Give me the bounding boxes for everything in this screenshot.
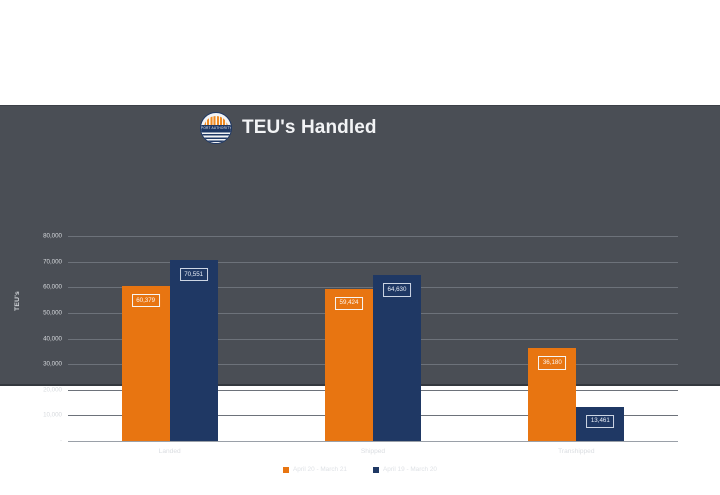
bar-value-label: 13,461 bbox=[586, 415, 614, 428]
y-axis-tick-label: 80,000 bbox=[43, 233, 62, 240]
legend-swatch-icon bbox=[373, 467, 379, 473]
x-axis-category-label: Shipped bbox=[361, 448, 385, 455]
chart-panel: PORT AUTHORITY TEU's Handled TEU's -10,0… bbox=[0, 105, 720, 386]
x-axis-category-label: Transhipped bbox=[558, 448, 594, 455]
chart-canvas: PORT AUTHORITY TEU's Handled TEU's -10,0… bbox=[0, 0, 720, 495]
bar-group: 59,42464,630Shipped bbox=[271, 236, 474, 441]
bar-shipped-series1[interactable]: 64,630 bbox=[373, 275, 421, 441]
bar-value-label: 59,424 bbox=[335, 297, 363, 310]
y-axis-tick-label: 60,000 bbox=[43, 284, 62, 291]
bar-transhipped-series0[interactable]: 36,180 bbox=[528, 348, 576, 441]
y-axis-tick-label: - bbox=[60, 438, 62, 445]
plot-area: -10,00020,00030,00040,00050,00060,00070,… bbox=[68, 236, 678, 441]
y-axis-tick-label: 70,000 bbox=[43, 258, 62, 265]
y-axis-tick-label: 20,000 bbox=[43, 386, 62, 393]
chart-header: PORT AUTHORITY TEU's Handled bbox=[200, 111, 377, 145]
legend-label: April 20 - March 21 bbox=[293, 466, 347, 473]
bar-value-label: 60,379 bbox=[132, 294, 160, 307]
chart-legend: April 20 - March 21April 19 - March 20 bbox=[0, 466, 720, 473]
y-axis-tick-label: 10,000 bbox=[43, 412, 62, 419]
waves-icon bbox=[201, 131, 231, 143]
bar-value-label: 36,180 bbox=[538, 356, 566, 369]
bar-shipped-series0[interactable]: 59,424 bbox=[325, 289, 373, 441]
y-axis-tick-label: 40,000 bbox=[43, 335, 62, 342]
bar-group: 60,37970,551Landed bbox=[68, 236, 271, 441]
bar-value-label: 64,630 bbox=[383, 283, 411, 296]
x-axis-category-label: Landed bbox=[159, 448, 181, 455]
chart-title: TEU's Handled bbox=[242, 117, 377, 139]
bar-group: 36,18013,461Transhipped bbox=[475, 236, 678, 441]
bar-value-label: 70,551 bbox=[180, 268, 208, 281]
gridline: - bbox=[68, 441, 678, 442]
bar-landed-series0[interactable]: 60,379 bbox=[122, 286, 170, 441]
legend-label: April 19 - March 20 bbox=[383, 466, 437, 473]
legend-swatch-icon bbox=[283, 467, 289, 473]
bar-transhipped-series1[interactable]: 13,461 bbox=[576, 407, 624, 441]
y-axis-title: TEU's bbox=[14, 291, 21, 311]
y-axis-tick-label: 50,000 bbox=[43, 309, 62, 316]
legend-item-1[interactable]: April 19 - March 20 bbox=[373, 466, 437, 473]
y-axis-tick-label: 30,000 bbox=[43, 361, 62, 368]
legend-item-0[interactable]: April 20 - March 21 bbox=[283, 466, 347, 473]
port-authority-logo-icon: PORT AUTHORITY bbox=[200, 112, 232, 144]
bar-landed-series1[interactable]: 70,551 bbox=[170, 260, 218, 441]
